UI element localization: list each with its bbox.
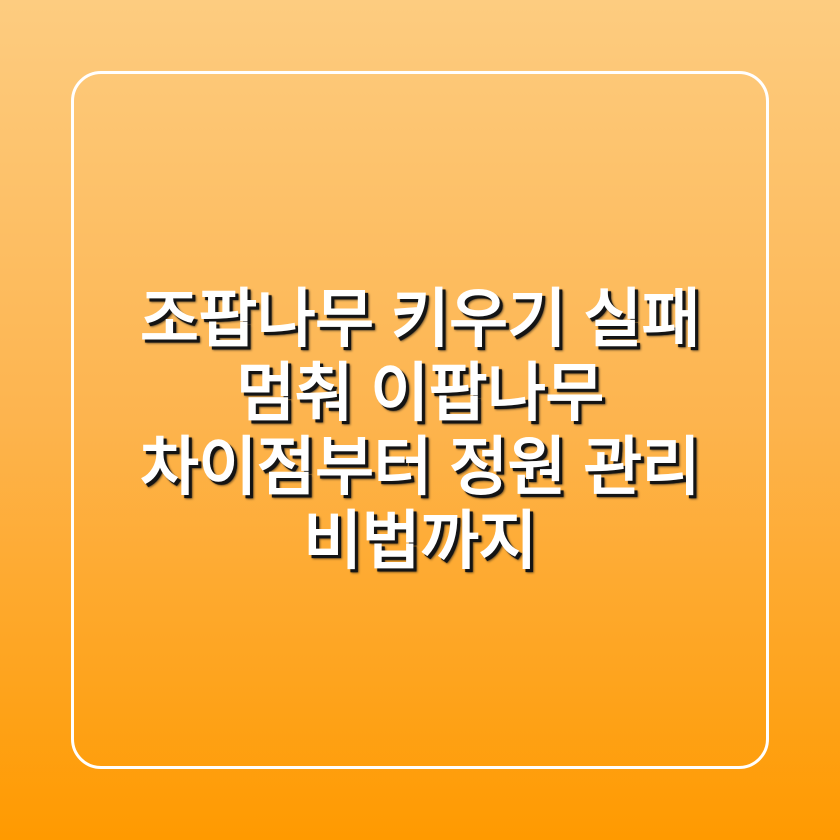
headline-line-4: 비법까지: [60, 504, 780, 578]
poster-canvas: 조팝나무 키우기 실패 멈춰 이팝나무 차이점부터 정원 관리 비법까지: [0, 0, 840, 840]
headline-block: 조팝나무 키우기 실패 멈춰 이팝나무 차이점부터 정원 관리 비법까지: [0, 282, 840, 578]
headline-line-3: 차이점부터 정원 관리: [60, 430, 780, 504]
headline-line-1: 조팝나무 키우기 실패: [60, 282, 780, 356]
headline-line-2: 멈춰 이팝나무: [60, 356, 780, 430]
